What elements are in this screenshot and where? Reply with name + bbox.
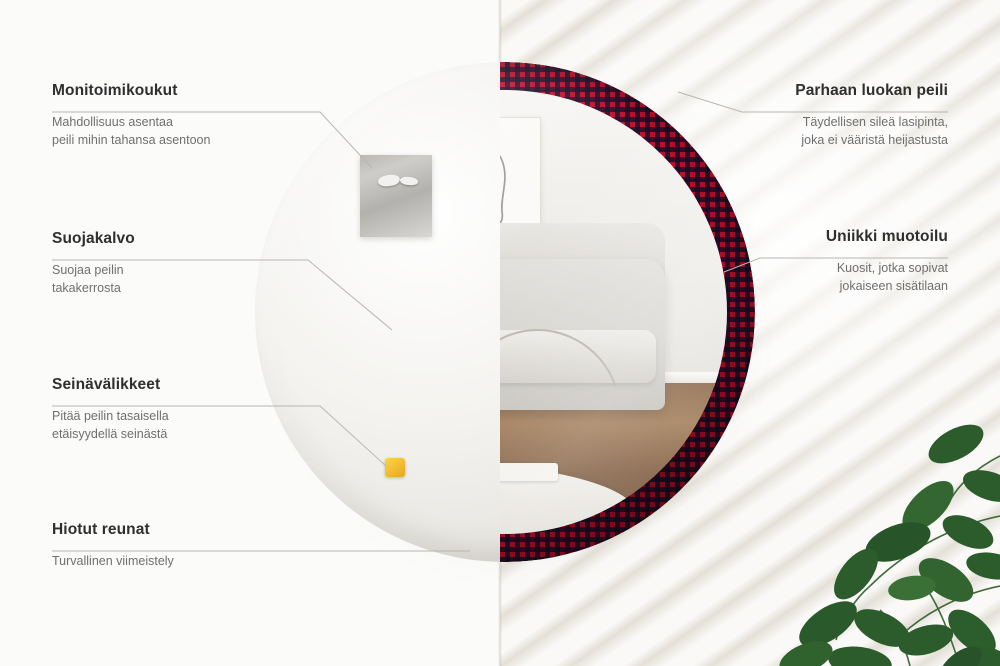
callout-monitoimikoukut: Monitoimikoukut Mahdollisuus asentaa pei…: [52, 82, 352, 149]
callout-desc: Suojaa peilin takakerrosta: [52, 261, 352, 297]
callout-title: Suojakalvo: [52, 230, 352, 248]
infographic-canvas: Monitoimikoukut Mahdollisuus asentaa pei…: [0, 0, 1000, 666]
callout-parhaan-luokan-peili: Parhaan luokan peili Täydellisen sileä l…: [648, 82, 948, 149]
callout-seinavalikkeet: Seinävälikkeet Pitää peilin tasaisella e…: [52, 376, 352, 443]
callout-desc: Pitää peilin tasaisella etäisyydellä sei…: [52, 407, 352, 443]
callout-hiotut-reunat: Hiotut reunat Turvallinen viimeistely: [52, 521, 352, 570]
callout-suojakalvo: Suojakalvo Suojaa peilin takakerrosta: [52, 230, 352, 297]
foliage-decoration: [660, 336, 1000, 666]
callout-uniikki-muotoilu: Uniikki muotoilu Kuosit, jotka sopivat j…: [648, 228, 948, 295]
leaf-group: [775, 417, 1000, 666]
callout-title: Uniikki muotoilu: [648, 228, 948, 246]
callout-title: Hiotut reunat: [52, 521, 352, 539]
callout-desc: Mahdollisuus asentaa peili mihin tahansa…: [52, 113, 352, 149]
callout-desc: Kuosit, jotka sopivat jokaiseen sisätila…: [648, 259, 948, 295]
callout-desc: Täydellisen sileä lasipinta, joka ei vää…: [648, 113, 948, 149]
callout-title: Monitoimikoukut: [52, 82, 352, 100]
callout-desc: Turvallinen viimeistely: [52, 552, 352, 570]
callout-title: Parhaan luokan peili: [648, 82, 948, 100]
arc-lamp-base: [500, 463, 558, 481]
callout-title: Seinävälikkeet: [52, 376, 352, 394]
